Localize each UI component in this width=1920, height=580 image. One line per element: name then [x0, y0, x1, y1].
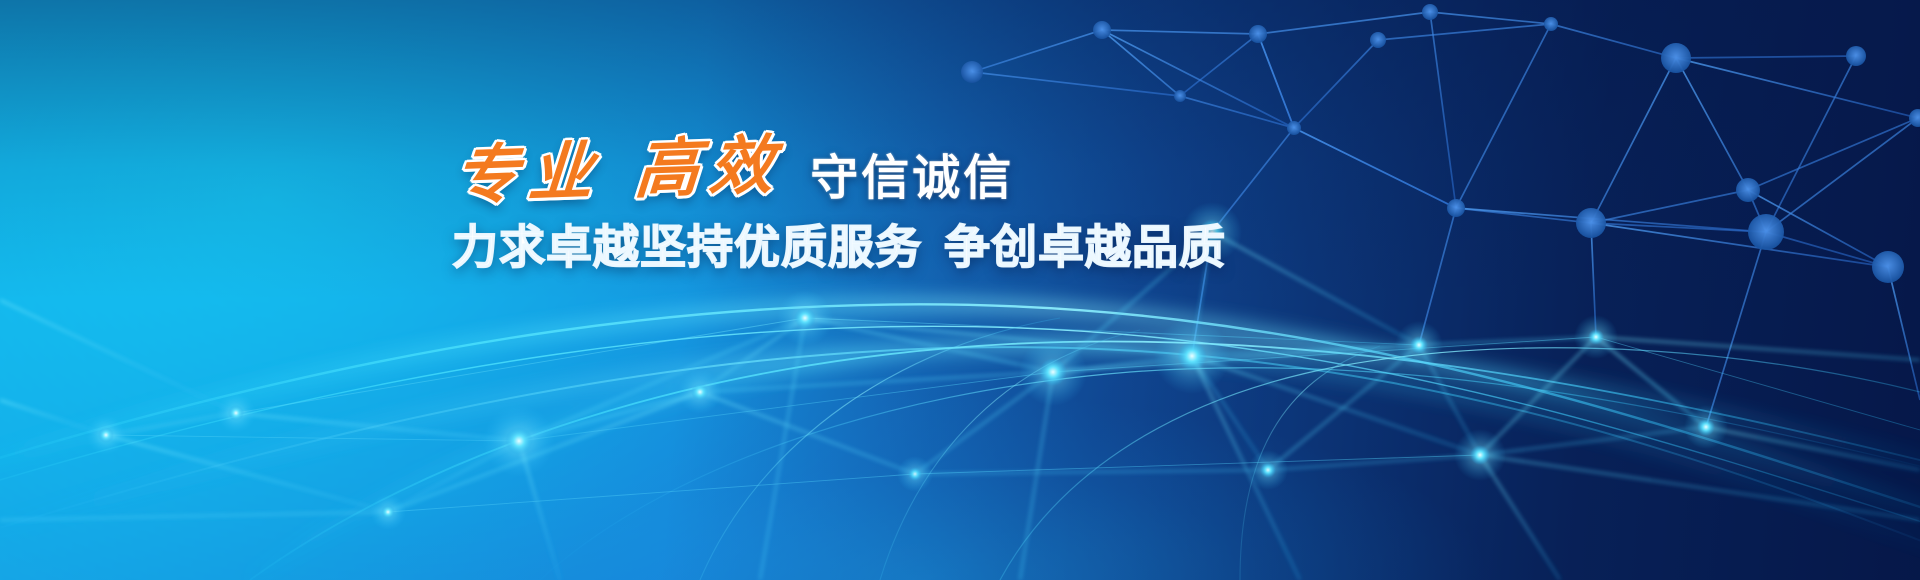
banner-text-block: 专业 高效 守信诚信 力求卓越坚持优质服务争创卓越品质: [452, 132, 1172, 292]
hero-banner: 专业 高效 守信诚信 力求卓越坚持优质服务争创卓越品质: [0, 0, 1920, 580]
headline-line: 专业 高效 守信诚信: [452, 132, 1172, 210]
tagline-part1: 力求卓越坚持优质服务: [452, 220, 922, 274]
headline-highlight: 专业 高效: [452, 133, 786, 210]
background-bottom-glow: [0, 280, 1920, 580]
tagline-part2: 争创卓越品质: [944, 220, 1226, 274]
tagline-line: 力求卓越坚持优质服务争创卓越品质: [452, 218, 1172, 276]
headline-subline: 守信诚信: [810, 150, 1014, 210]
